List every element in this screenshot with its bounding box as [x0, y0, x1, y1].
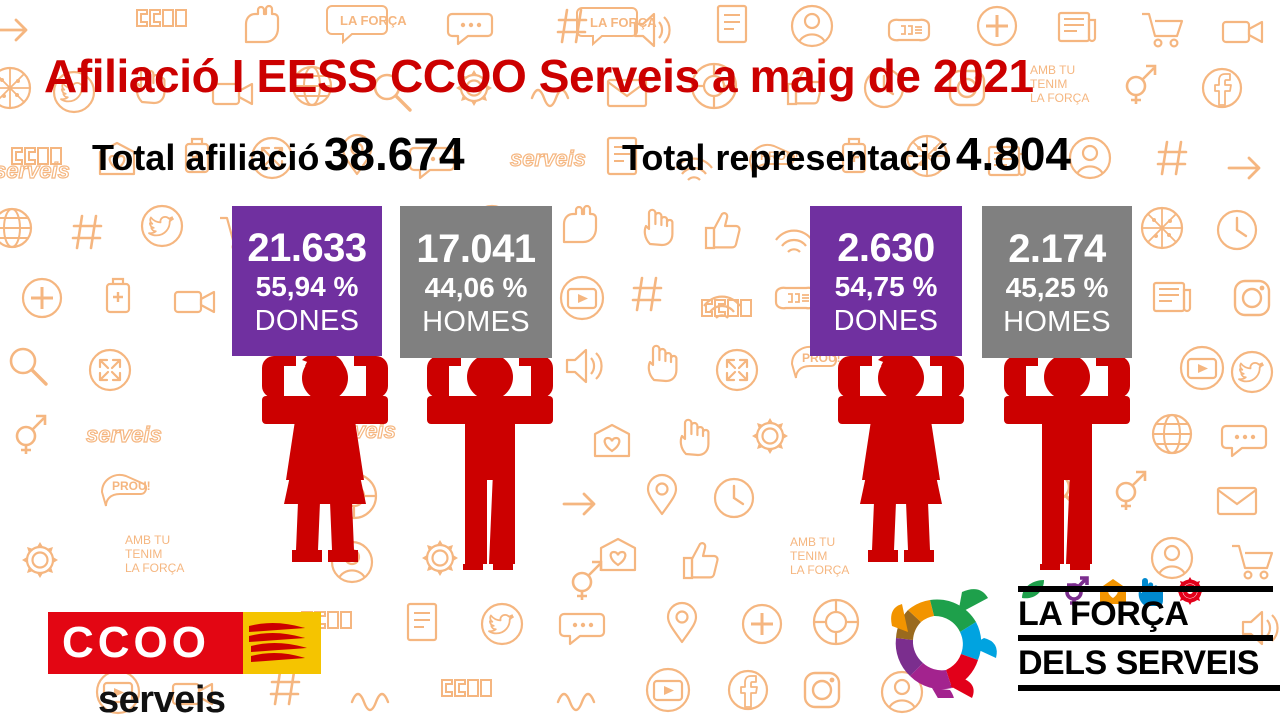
stat-percent: 55,94 %: [256, 270, 359, 304]
ccoo-red-bar: CCOO: [48, 612, 283, 674]
ccoo-letters: CCOO: [62, 620, 210, 666]
stat-percent: 54,75 %: [835, 270, 938, 304]
infographic-canvas: serveis LA FORÇA AMB TU TENIM LA FORÇA P…: [0, 0, 1280, 720]
stat-label: DONES: [834, 304, 939, 338]
stat-number: 17.041: [416, 227, 535, 271]
la-forca-dels-serveis-logo: LA FORÇA DELS SERVEIS: [878, 578, 1278, 698]
catalan-flag-icon: [243, 612, 321, 674]
totals-row: Total afiliació 38.674 Total representac…: [0, 128, 1280, 184]
ccoo-serveis-label: serveis: [98, 680, 283, 720]
total-affiliation-value: 38.674: [324, 128, 465, 180]
stat-percent: 44,06 %: [425, 271, 528, 305]
forca-rule-mid: [1018, 635, 1273, 641]
stat-number: 2.630: [837, 226, 935, 270]
stat-box-representacio-homes: 2.174 45,25 % HOMES: [982, 206, 1132, 358]
total-representation-label: Total representació: [622, 137, 951, 178]
ccoo-serveis-logo: CCOO serveis: [48, 612, 283, 720]
total-representation: Total representació 4.804: [622, 128, 1071, 192]
figure-man-representation: [992, 352, 1142, 574]
stat-box-afiliacio-homes: 17.041 44,06 % HOMES: [400, 206, 552, 358]
stat-label: HOMES: [422, 305, 530, 339]
figure-woman-affiliation: [250, 352, 400, 574]
colour-ring-icon: [878, 586, 1010, 698]
total-affiliation: Total afiliació 38.674: [92, 128, 465, 192]
forca-line-1: LA FORÇA: [1018, 596, 1280, 632]
stat-box-afiliacio-dones: 21.633 55,94 % DONES: [232, 206, 382, 356]
stat-label: HOMES: [1003, 305, 1111, 339]
forca-rule-bottom: [1018, 685, 1280, 691]
page-title: Afiliació I EESS CCOO Serveis a maig de …: [44, 52, 1034, 100]
stat-percent: 45,25 %: [1006, 271, 1109, 305]
forca-line-2: DELS SERVEIS: [1018, 645, 1280, 681]
total-affiliation-label: Total afiliació: [92, 137, 319, 178]
stat-number: 2.174: [1008, 227, 1106, 271]
total-representation-value: 4.804: [956, 128, 1071, 180]
figure-man-affiliation: [415, 352, 565, 574]
stat-label: DONES: [255, 304, 360, 338]
figure-woman-representation: [826, 352, 976, 574]
forca-rule-top: [1018, 586, 1273, 592]
stat-number: 21.633: [247, 226, 366, 270]
forca-text-block: LA FORÇA DELS SERVEIS: [1018, 586, 1280, 691]
stat-box-representacio-dones: 2.630 54,75 % DONES: [810, 206, 962, 356]
